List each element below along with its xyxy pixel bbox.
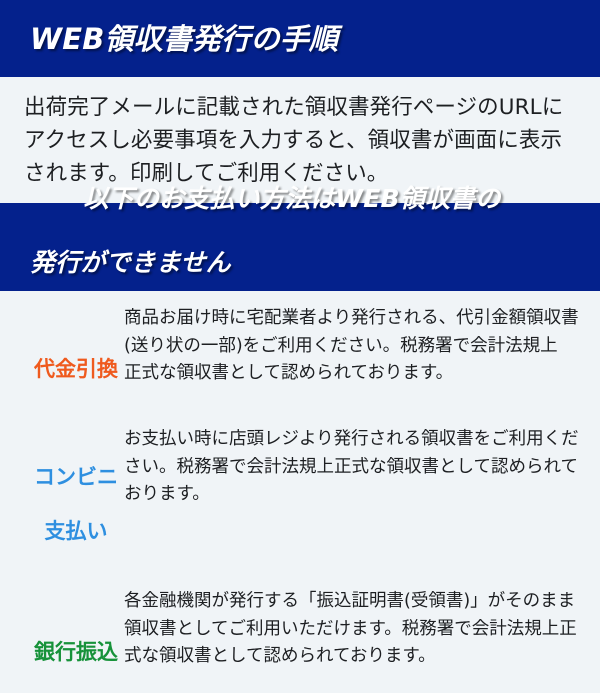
payment-method-description-cvs: お支払い時に店頭レジより発行される領収書をご利用くだ さい。税務署で会計法規上正…	[124, 422, 579, 509]
payment-method-row: 銀行振込 各金融機関が発行する「振込証明書(受領書)」がそのまま 領収書としてご…	[0, 584, 600, 693]
description-line: 正式な領収書として認められております。	[124, 360, 579, 388]
receipt-info-page: WEB領収書発行の手順 出荷完了メールに記載された領収書発行ページのURLに ア…	[0, 0, 600, 600]
description-line: 各金融機関が発行する「振込証明書(受領書)」がそのまま	[124, 588, 577, 616]
payment-methods-list: 代金引換 商品お届け時に宅配業者より発行される、代引金額領収書 (送り状の一部)…	[0, 291, 600, 693]
payment-method-description-cod: 商品お届け時に宅配業者より発行される、代引金額領収書 (送り状の一部)をご利用く…	[124, 301, 579, 388]
payment-method-label-bank: 銀行振込	[0, 612, 124, 693]
description-line: お支払い時に店頭レジより発行される領収書をご利用くだ	[124, 426, 579, 454]
payment-method-label-cod: 代金引換	[0, 329, 124, 410]
notice-title-line-2: 発行ができません	[30, 247, 600, 279]
description-line: 領収書としてご利用いただけます。税務署で会計法規上正	[124, 616, 577, 644]
payment-method-row: コンビニ 支払い お支払い時に店頭レジより発行される領収書をご利用くだ さい。税…	[0, 422, 600, 572]
notice-title-line-1: 以下のお支払い方法はWEB領収書の	[83, 184, 500, 213]
payment-method-label-line: コンビニ	[28, 464, 124, 491]
payment-method-label-line: 銀行振込	[28, 639, 124, 666]
description-line: 式な領収書として認められております。	[124, 643, 577, 671]
description-line: (送り状の一部)をご利用ください。税務署で会計法規上	[124, 333, 579, 361]
payment-method-label-line: 代金引換	[28, 356, 124, 383]
notice-header-band: 以下のお支払い方法はWEB領収書の 発行ができません	[0, 203, 600, 291]
intro-line: 出荷完了メールに記載された領収書発行ページのURLに	[24, 91, 576, 124]
page-header-band: WEB領収書発行の手順	[0, 0, 600, 77]
payment-method-label-cvs: コンビニ 支払い	[0, 437, 124, 572]
payment-method-description-bank: 各金融機関が発行する「振込証明書(受領書)」がそのまま 領収書としてご利用いただ…	[124, 584, 577, 671]
page-title: WEB領収書発行の手順	[30, 22, 600, 56]
payment-method-label-line: 支払い	[28, 518, 124, 545]
description-line: おります。	[124, 481, 579, 509]
description-line: さい。税務署で会計法規上正式な領収書として認められて	[124, 454, 579, 482]
description-line: 商品お届け時に宅配業者より発行される、代引金額領収書	[124, 305, 579, 333]
